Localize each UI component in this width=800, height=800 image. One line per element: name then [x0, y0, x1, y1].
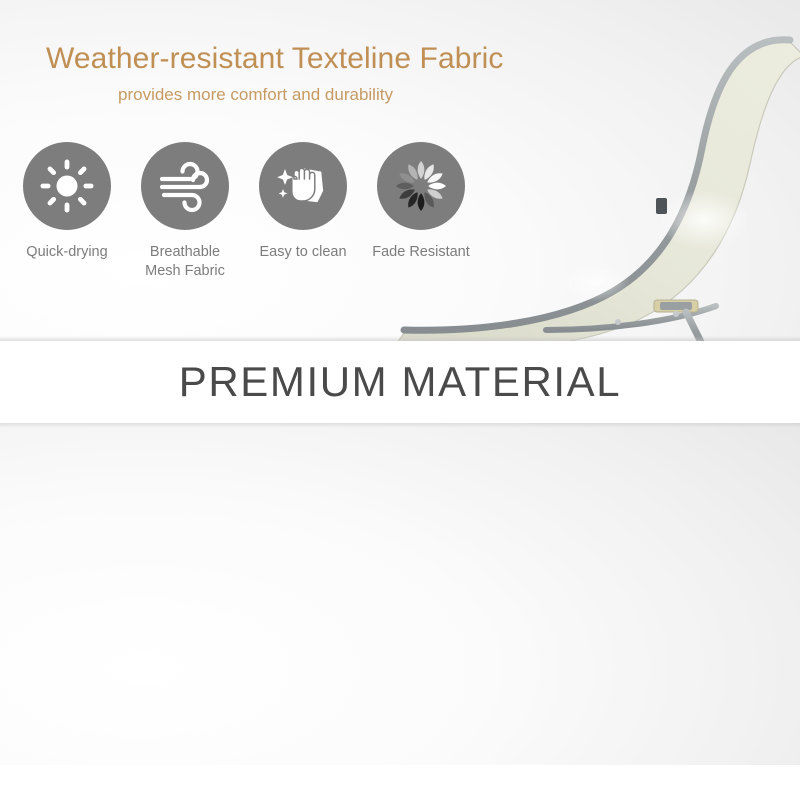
banner-title: PREMIUM MATERIAL: [179, 358, 622, 406]
sun-icon: [23, 142, 111, 230]
feature-label: Quick-drying: [26, 243, 107, 262]
hand-wipe-icon: [259, 142, 347, 230]
feature-easy-to-clean: Easy to clean: [244, 142, 362, 262]
page-subtitle-fabric: provides more comfort and durability: [118, 85, 504, 105]
wind-icon: [141, 142, 229, 230]
fabric-heading-group: Weather-resistant Texteline Fabric provi…: [46, 42, 504, 105]
feature-label: Breathable Mesh Fabric: [145, 243, 225, 281]
bottom-white-strip: [0, 765, 800, 800]
section-background-bottom: [0, 420, 800, 765]
section-fabric: Weather-resistant Texteline Fabric provi…: [0, 0, 800, 345]
color-wheel-icon: [377, 142, 465, 230]
fabric-feature-list: Quick-drying Breathable Mesh Fabric: [8, 142, 480, 281]
infographic-page: Weather-resistant Texteline Fabric provi…: [0, 0, 800, 800]
feature-breathable-mesh: Breathable Mesh Fabric: [126, 142, 244, 281]
premium-material-banner: PREMIUM MATERIAL: [0, 341, 800, 423]
feature-quick-drying: Quick-drying: [8, 142, 126, 262]
section-frame: Durable Aluminum Frame for easy carry an…: [0, 420, 800, 765]
feature-fade-resistant: Fade Resistant: [362, 142, 480, 262]
page-title-fabric: Weather-resistant Texteline Fabric: [46, 42, 504, 77]
feature-label: Easy to clean: [259, 243, 346, 262]
feature-label: Fade Resistant: [372, 243, 470, 262]
